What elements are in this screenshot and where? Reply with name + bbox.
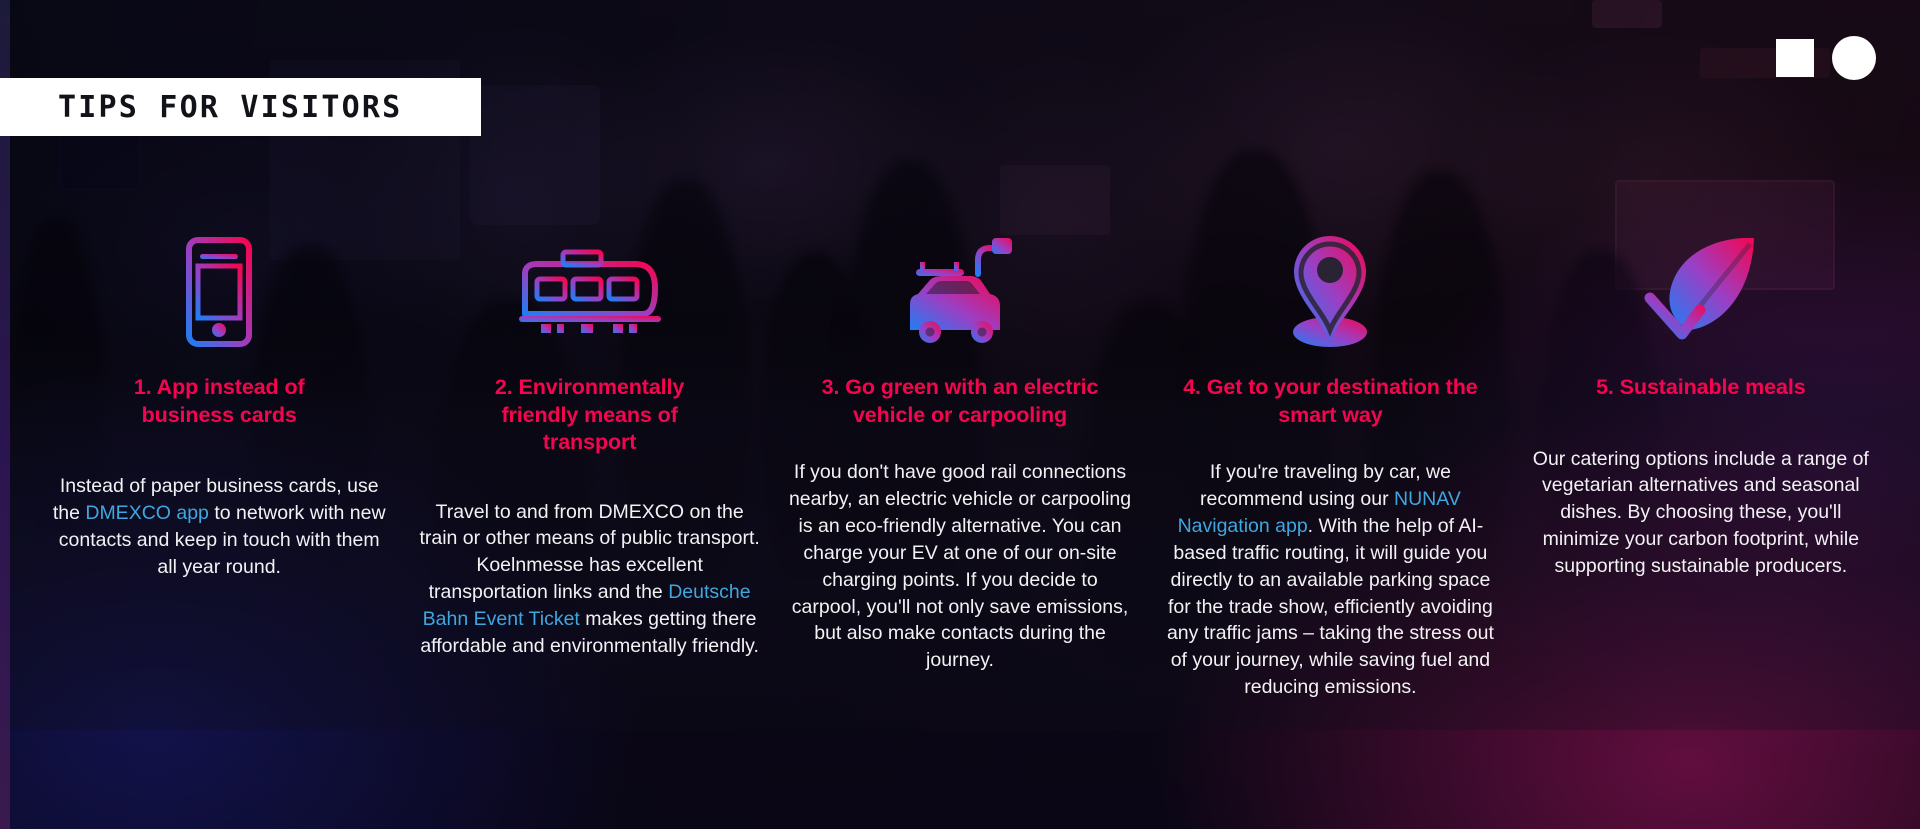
pause-button[interactable] (1776, 39, 1814, 77)
tip-body: Our catering options include a range of … (1530, 446, 1872, 581)
tip-body: If you're traveling by car, we recommend… (1159, 459, 1501, 701)
tips-columns: 1. App instead of business cards Instead… (0, 232, 1920, 701)
tips-for-visitors-banner: TIPS FOR VISITORS (0, 0, 1920, 829)
slider-controls (1776, 36, 1876, 80)
tip-column-2: 2. Environmentally friendly means of tra… (404, 232, 774, 701)
tip-column-5: 5. Sustainable meals Our catering option… (1516, 232, 1886, 701)
tip-title: 1. App instead of business cards (89, 374, 349, 429)
tip-title: 3. Go green with an electric vehicle or … (795, 374, 1125, 429)
tip-title: 5. Sustainable meals (1596, 374, 1806, 402)
tip-body: Travel to and from DMEXCO on the train o… (418, 499, 760, 660)
tip-body-text: Our catering options include a range of … (1533, 448, 1869, 578)
electric-car-icon (904, 232, 1016, 352)
tip-column-1: 1. App instead of business cards Instead… (34, 232, 404, 701)
leaf-check-icon (1642, 232, 1760, 352)
tip-title: 4. Get to your destination the smart way (1170, 374, 1490, 429)
map-pin-icon (1290, 232, 1370, 352)
smartphone-icon (186, 232, 252, 352)
tip-body-text: If you don't have good rail connections … (789, 461, 1131, 671)
page-title: TIPS FOR VISITORS (0, 78, 481, 136)
dmexco-app-link[interactable]: DMEXCO app (85, 502, 209, 524)
play-button[interactable] (1832, 36, 1876, 80)
tip-column-3: 3. Go green with an electric vehicle or … (775, 232, 1145, 701)
tip-body-text: . With the help of AI-based traffic rout… (1167, 515, 1494, 698)
tip-body: If you don't have good rail connections … (789, 459, 1131, 674)
tip-title: 2. Environmentally friendly means of tra… (460, 374, 720, 457)
tip-body: Instead of paper business cards, use the… (48, 473, 390, 581)
tip-column-4: 4. Get to your destination the smart way… (1145, 232, 1515, 701)
train-icon (517, 232, 663, 352)
page-title-text: TIPS FOR VISITORS (0, 90, 402, 125)
